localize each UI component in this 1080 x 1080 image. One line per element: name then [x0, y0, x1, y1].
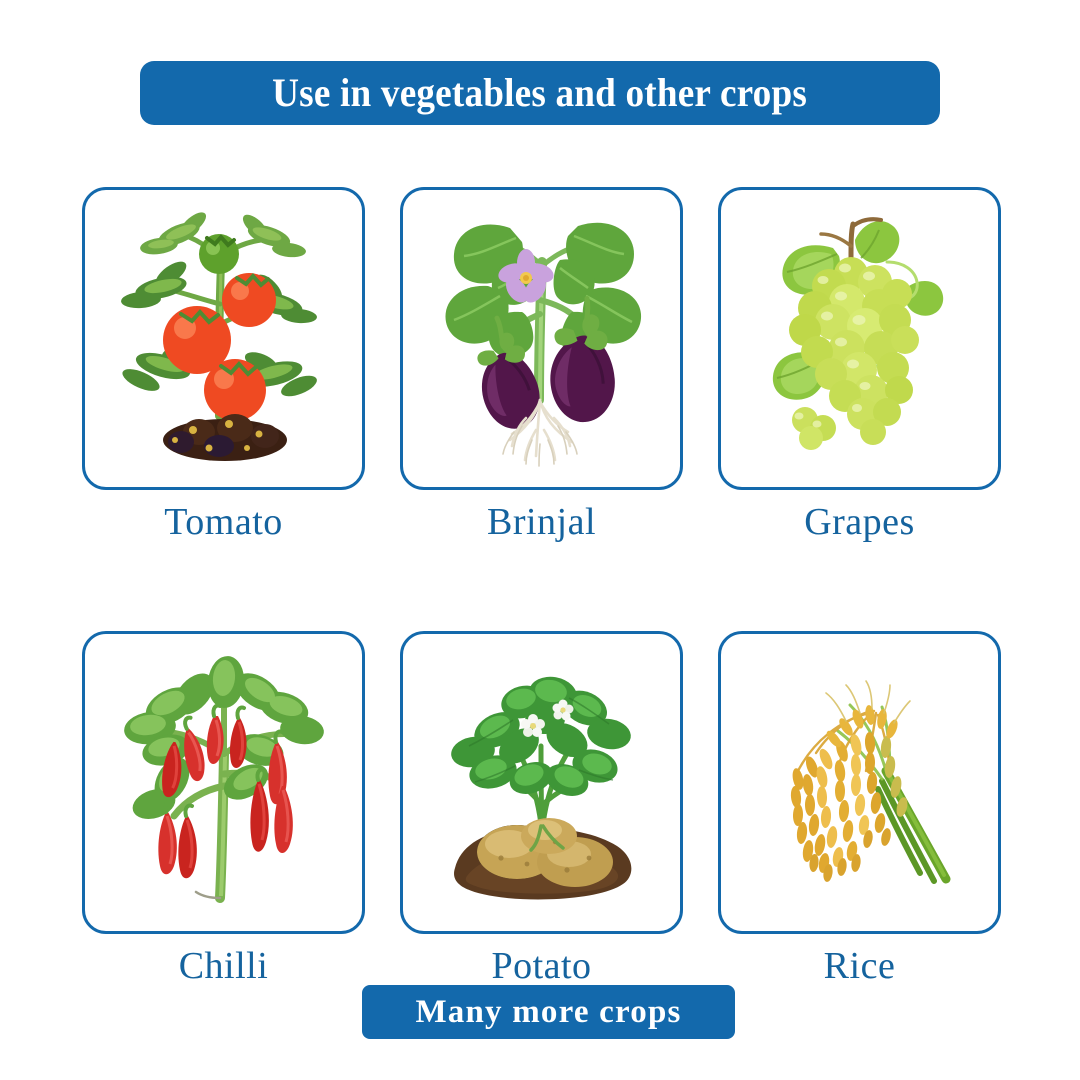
footer-title: Many more crops [415, 996, 681, 1029]
crop-cell-rice[interactable]: Rice [718, 631, 1001, 988]
crop-card-chilli[interactable] [82, 631, 365, 934]
poster-canvas: Use in vegetables and other crops [0, 0, 1080, 1080]
brinjal-plant-icon [426, 204, 658, 474]
rice-panicle-icon [750, 667, 970, 897]
crop-card-tomato[interactable] [82, 187, 365, 490]
crop-label-brinjal: Brinjal [400, 502, 683, 544]
crop-card-brinjal[interactable] [400, 187, 683, 490]
footer-banner: Many more crops [362, 985, 735, 1039]
crop-cell-potato[interactable]: Potato [400, 631, 683, 988]
grapes-bunch-icon [747, 206, 972, 471]
crop-label-rice: Rice [718, 946, 1001, 988]
crop-card-grapes[interactable] [718, 187, 1001, 490]
header-banner: Use in vegetables and other crops [140, 61, 940, 125]
crop-label-chilli: Chilli [82, 946, 365, 988]
crop-cell-brinjal[interactable]: Brinjal [400, 187, 683, 544]
crop-cell-grapes[interactable]: Grapes [718, 187, 1001, 544]
crop-row-2: Chilli [82, 631, 1002, 988]
crop-row-1: Tomato [82, 187, 1002, 544]
crop-card-potato[interactable] [400, 631, 683, 934]
crop-card-rice[interactable] [718, 631, 1001, 934]
potato-plant-icon [427, 654, 657, 910]
crop-label-tomato: Tomato [82, 502, 365, 544]
tomato-plant-icon [109, 204, 339, 474]
chilli-plant-icon [106, 646, 341, 918]
header-title: Use in vegetables and other crops [273, 73, 808, 113]
crop-cell-chilli[interactable]: Chilli [82, 631, 365, 988]
crop-cell-tomato[interactable]: Tomato [82, 187, 365, 544]
crop-label-potato: Potato [400, 946, 683, 988]
crop-label-grapes: Grapes [718, 502, 1001, 544]
crop-grid: Tomato [82, 187, 1002, 988]
